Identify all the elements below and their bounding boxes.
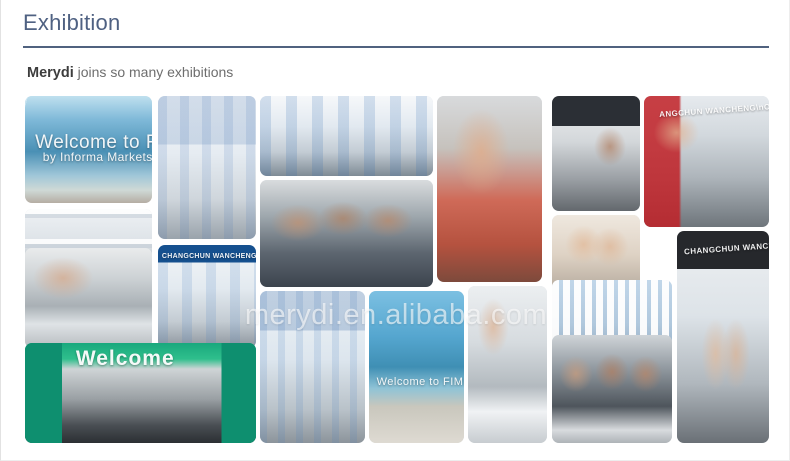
gallery-photo[interactable]: CHANGCHUN WANCHENG\nBIO-ELECTRON CO., LT… bbox=[158, 245, 256, 348]
section-header: Exhibition bbox=[23, 8, 769, 48]
photo-image bbox=[677, 231, 769, 443]
photo-image bbox=[260, 291, 365, 443]
gallery-photo[interactable] bbox=[158, 96, 256, 239]
photo-image bbox=[25, 343, 256, 443]
section-caption: Merydi joins so many exhibitions bbox=[27, 62, 233, 83]
gallery-photo[interactable]: CHANGCHUN WANCHE bbox=[677, 231, 769, 443]
photo-image bbox=[260, 96, 433, 176]
gallery-photo[interactable]: Welcome to FIME by Informa Markets bbox=[25, 96, 152, 203]
gallery-photo[interactable]: Welcome to FIME bbox=[369, 291, 464, 443]
gallery-photo[interactable]: ANGCHUN WANCHENG\nO-ELECTRON CO., LTD bbox=[644, 96, 769, 227]
title-divider bbox=[23, 46, 769, 48]
gallery-photo[interactable] bbox=[260, 180, 433, 287]
photo-image bbox=[260, 180, 433, 287]
photo-image bbox=[25, 248, 152, 348]
photo-image bbox=[369, 291, 464, 443]
exhibition-photo-gallery: Welcome to FIME by Informa Markets CHANG… bbox=[1, 90, 790, 450]
exhibition-page: Exhibition Merydi joins so many exhibiti… bbox=[0, 0, 790, 461]
photo-image bbox=[644, 96, 769, 227]
photo-image bbox=[158, 245, 256, 348]
gallery-photo[interactable]: Welcome bbox=[25, 343, 256, 443]
photo-image bbox=[552, 96, 640, 211]
photo-image bbox=[468, 286, 547, 443]
gallery-photo[interactable] bbox=[260, 96, 433, 176]
gallery-photo[interactable] bbox=[25, 248, 152, 348]
photo-image bbox=[158, 96, 256, 239]
photo-image bbox=[552, 335, 672, 443]
gallery-photo[interactable] bbox=[437, 96, 542, 282]
gallery-photo[interactable] bbox=[260, 291, 365, 443]
caption-brand: Merydi bbox=[27, 65, 74, 81]
photo-image bbox=[25, 96, 152, 203]
caption-text: joins so many exhibitions bbox=[74, 64, 234, 80]
gallery-photo[interactable] bbox=[468, 286, 547, 443]
photo-image bbox=[437, 96, 542, 282]
page-title: Exhibition bbox=[23, 8, 769, 38]
gallery-photo[interactable] bbox=[552, 96, 640, 211]
gallery-photo[interactable] bbox=[552, 335, 672, 443]
